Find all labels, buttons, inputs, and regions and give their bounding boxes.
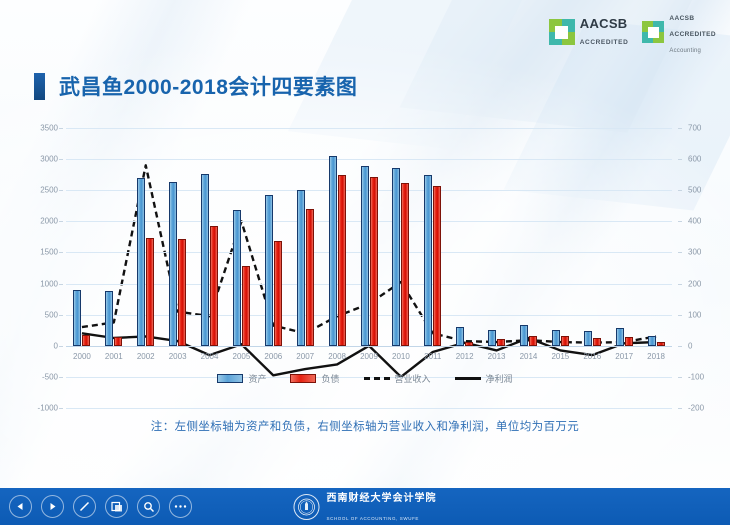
right-value-axis: 7006005004003002001000-100-200 [678,128,712,408]
right-axis-tick-label: 300 [688,248,701,257]
aacsb-mark-icon [549,19,575,45]
x-axis-tick-label: 2011 [424,352,441,361]
layout-icon[interactable] [105,495,128,518]
axis-tick [59,221,63,222]
liability-bar [338,175,346,346]
liability-bar [561,336,569,345]
liability-bar [593,338,601,346]
legend-label: 净利润 [486,372,513,385]
asset-bar [520,325,528,346]
school-seal-icon [294,494,320,520]
left-axis-tick-label: 2000 [40,217,58,226]
legend-net-profit-line [455,377,481,380]
axis-tick [678,128,682,129]
liability-bar [370,177,378,346]
left-axis-tick-label: 1000 [40,279,58,288]
axis-tick [678,252,682,253]
legend-item: 资产 [217,372,266,385]
legend-item: 营业收入 [364,372,431,385]
next-slide-icon[interactable] [41,495,64,518]
x-axis-tick-label: 2012 [456,352,474,361]
previous-slide-icon[interactable] [9,495,32,518]
legend-label: 资产 [248,372,266,385]
liability-bar [146,238,154,346]
x-axis-tick-label: 2018 [647,352,665,361]
school-brand: 西南财经大学会计学院 SCHOOL OF ACCOUNTING, SWUFE [294,488,437,525]
slide-title-row: 武昌鱼2000-2018会计四要素图 [34,71,357,101]
axis-tick [678,190,682,191]
right-axis-tick-label: 500 [688,186,701,195]
x-axis-tick-label: 2007 [296,352,314,361]
asset-bar [297,190,305,346]
gridline [66,159,672,160]
gridline [66,408,672,409]
x-axis-tick-label: 2017 [615,352,633,361]
axis-tick [678,159,682,160]
asset-bar [105,291,113,346]
x-axis-tick-label: 2014 [520,352,538,361]
liability-bar [82,335,90,346]
asset-bar [392,168,400,346]
legend-item: 净利润 [455,372,513,385]
axis-tick [678,221,682,222]
right-axis-tick-label: 700 [688,124,701,133]
left-axis-tick-label: 3500 [40,124,58,133]
title-accent-bar [34,73,45,100]
axis-tick [678,346,682,347]
axis-tick [678,408,682,409]
liability-bar [497,339,505,346]
liability-bar [274,241,282,346]
asset-bar [137,178,145,345]
asset-bar [552,330,560,346]
chart-plot-area: 2000200120022003200420052006200720082009… [66,128,672,408]
x-axis-tick-label: 2008 [328,352,346,361]
slide-toolbar: 西南财经大学会计学院 SCHOOL OF ACCOUNTING, SWUFE [0,488,730,525]
right-axis-tick-label: 0 [688,341,692,350]
chart-footnote: 注：左侧坐标轴为资产和负债，右侧坐标轴为营业收入和净利润，单位均为百万元 [0,418,730,434]
axis-tick [59,128,63,129]
x-axis-tick-label: 2006 [264,352,282,361]
left-axis-tick-label: -1000 [38,404,58,413]
right-axis-tick-label: 200 [688,279,701,288]
asset-bar [584,331,592,346]
axis-tick [678,284,682,285]
legend-asset-swatch [217,374,243,383]
left-value-axis: 3500300025002000150010005000-500-1000 [22,128,58,408]
liability-bar [657,342,665,346]
asset-bar [616,328,624,345]
left-axis-tick-label: 500 [45,310,58,319]
liability-bar [114,337,122,346]
x-axis-tick-label: 2004 [201,352,219,361]
liability-bar [306,209,314,346]
liability-bar [465,342,473,346]
legend-label: 营业收入 [395,372,431,385]
legend-revenue-line [364,377,390,380]
asset-bar [361,166,369,346]
axis-tick [59,159,63,160]
accounting-elements-chart: 3500300025002000150010005000-500-1000 70… [22,128,712,408]
right-axis-tick-label: 100 [688,310,701,319]
asset-bar [488,330,496,346]
right-axis-tick-label: 400 [688,217,701,226]
x-axis-tick-label: 2003 [169,352,187,361]
x-axis-tick-label: 2010 [392,352,410,361]
x-axis-tick-label: 2009 [360,352,378,361]
asset-bar [648,336,656,345]
x-axis-tick-label: 2000 [73,352,91,361]
right-axis-tick-label: -200 [688,404,704,413]
asset-bar [233,210,241,346]
x-axis-tick-label: 2001 [105,352,123,361]
aacsb-logo-line1: AACSB [580,16,628,31]
axis-tick [59,284,63,285]
aacsb-accredited-accounting-logo: AACSB ACCREDITED Accounting [642,8,716,56]
page-title: 武昌鱼2000-2018会计四要素图 [59,71,357,101]
search-icon[interactable] [137,495,160,518]
x-axis-tick-label: 2002 [137,352,155,361]
presentation-slide: AACSB ACCREDITED AACSB ACCREDITED Accoun… [0,0,730,525]
more-options-icon[interactable] [169,495,192,518]
school-name-en: SCHOOL OF ACCOUNTING, SWUFE [327,516,420,521]
asset-bar [329,156,337,346]
axis-tick [59,346,63,347]
axis-tick [678,315,682,316]
asset-bar [73,290,81,345]
liability-bar [401,183,409,346]
x-axis-tick-label: 2013 [488,352,506,361]
legend-item: 负债 [290,372,339,385]
x-axis-tick-label: 2015 [551,352,569,361]
liability-bar [178,239,186,346]
legend-label: 负债 [321,372,339,385]
liability-bar [625,337,633,346]
school-name-cn: 西南财经大学会计学院 [327,493,437,504]
pen-icon[interactable] [73,495,96,518]
liability-bar [210,226,218,346]
aacsb-accounting-line2: ACCREDITED [669,31,716,38]
aacsb-accounting-line3: Accounting [669,48,701,54]
axis-tick [59,408,63,409]
asset-bar [201,174,209,346]
aacsb-accounting-line1: AACSB [669,15,694,22]
x-axis-tick-label: 2005 [233,352,251,361]
liability-bar [529,336,537,346]
liability-bar [433,186,441,346]
gridline [66,128,672,129]
axis-tick [59,315,63,316]
asset-bar [265,195,273,346]
toolbar-buttons [0,495,192,518]
accreditation-logos: AACSB ACCREDITED AACSB ACCREDITED Accoun… [549,8,716,56]
aacsb-accredited-logo: AACSB ACCREDITED [549,16,629,48]
liability-bar [242,266,250,346]
right-axis-tick-label: 600 [688,155,701,164]
aacsb-logo-line2: ACCREDITED [580,39,629,46]
asset-bar [424,175,432,346]
left-axis-tick-label: 1500 [40,248,58,257]
gridline [66,346,672,347]
left-axis-tick-label: 0 [54,341,58,350]
asset-bar [169,182,177,346]
axis-tick [59,190,63,191]
left-axis-tick-label: 3000 [40,155,58,164]
aacsb-mark-icon [642,21,664,43]
x-axis-tick-label: 2016 [583,352,601,361]
left-axis-tick-label: 2500 [40,186,58,195]
chart-legend: 资产负债营业收入净利润 [0,372,730,385]
asset-bar [456,327,464,346]
legend-liability-swatch [290,374,316,383]
axis-tick [59,252,63,253]
